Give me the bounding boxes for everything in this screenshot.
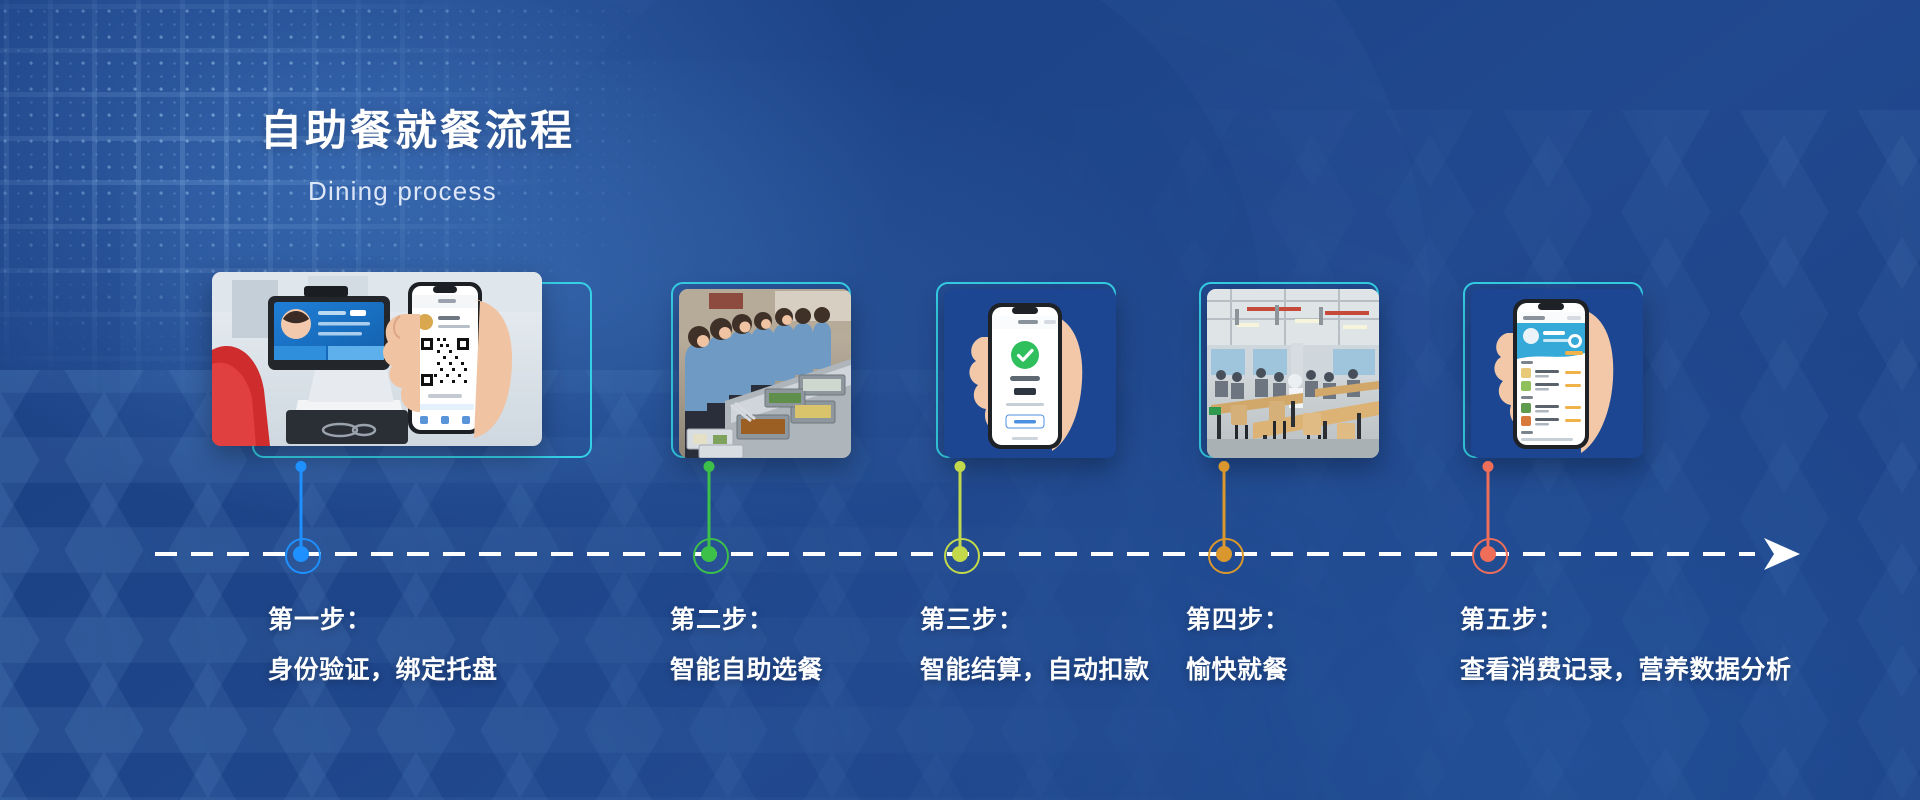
step-1-description: 身份验证，绑定托盘 [268,650,498,686]
step-3-description: 智能结算，自动扣款 [920,650,1150,686]
step-caption-4: 第四步： 愉快就餐 [1186,600,1290,686]
step-caption-list: 第一步： 身份验证，绑定托盘 第二步： 智能自助选餐 第三步： 智能结算，自动扣… [0,0,1920,800]
step-caption-3: 第三步： 智能结算，自动扣款 [920,600,1150,686]
dining-process-infographic: 自助餐就餐流程 Dining process [0,0,1920,800]
step-4-description: 愉快就餐 [1186,650,1290,686]
step-2-description: 智能自助选餐 [670,650,823,686]
step-caption-5: 第五步： 查看消费记录，营养数据分析 [1460,600,1792,686]
step-caption-1: 第一步： 身份验证，绑定托盘 [268,600,498,686]
step-4-index-label: 第四步： [1186,600,1290,636]
step-1-index-label: 第一步： [268,600,498,636]
step-caption-2: 第二步： 智能自助选餐 [670,600,823,686]
step-5-index-label: 第五步： [1460,600,1792,636]
step-3-index-label: 第三步： [920,600,1150,636]
step-2-index-label: 第二步： [670,600,823,636]
step-5-description: 查看消费记录，营养数据分析 [1460,650,1792,686]
